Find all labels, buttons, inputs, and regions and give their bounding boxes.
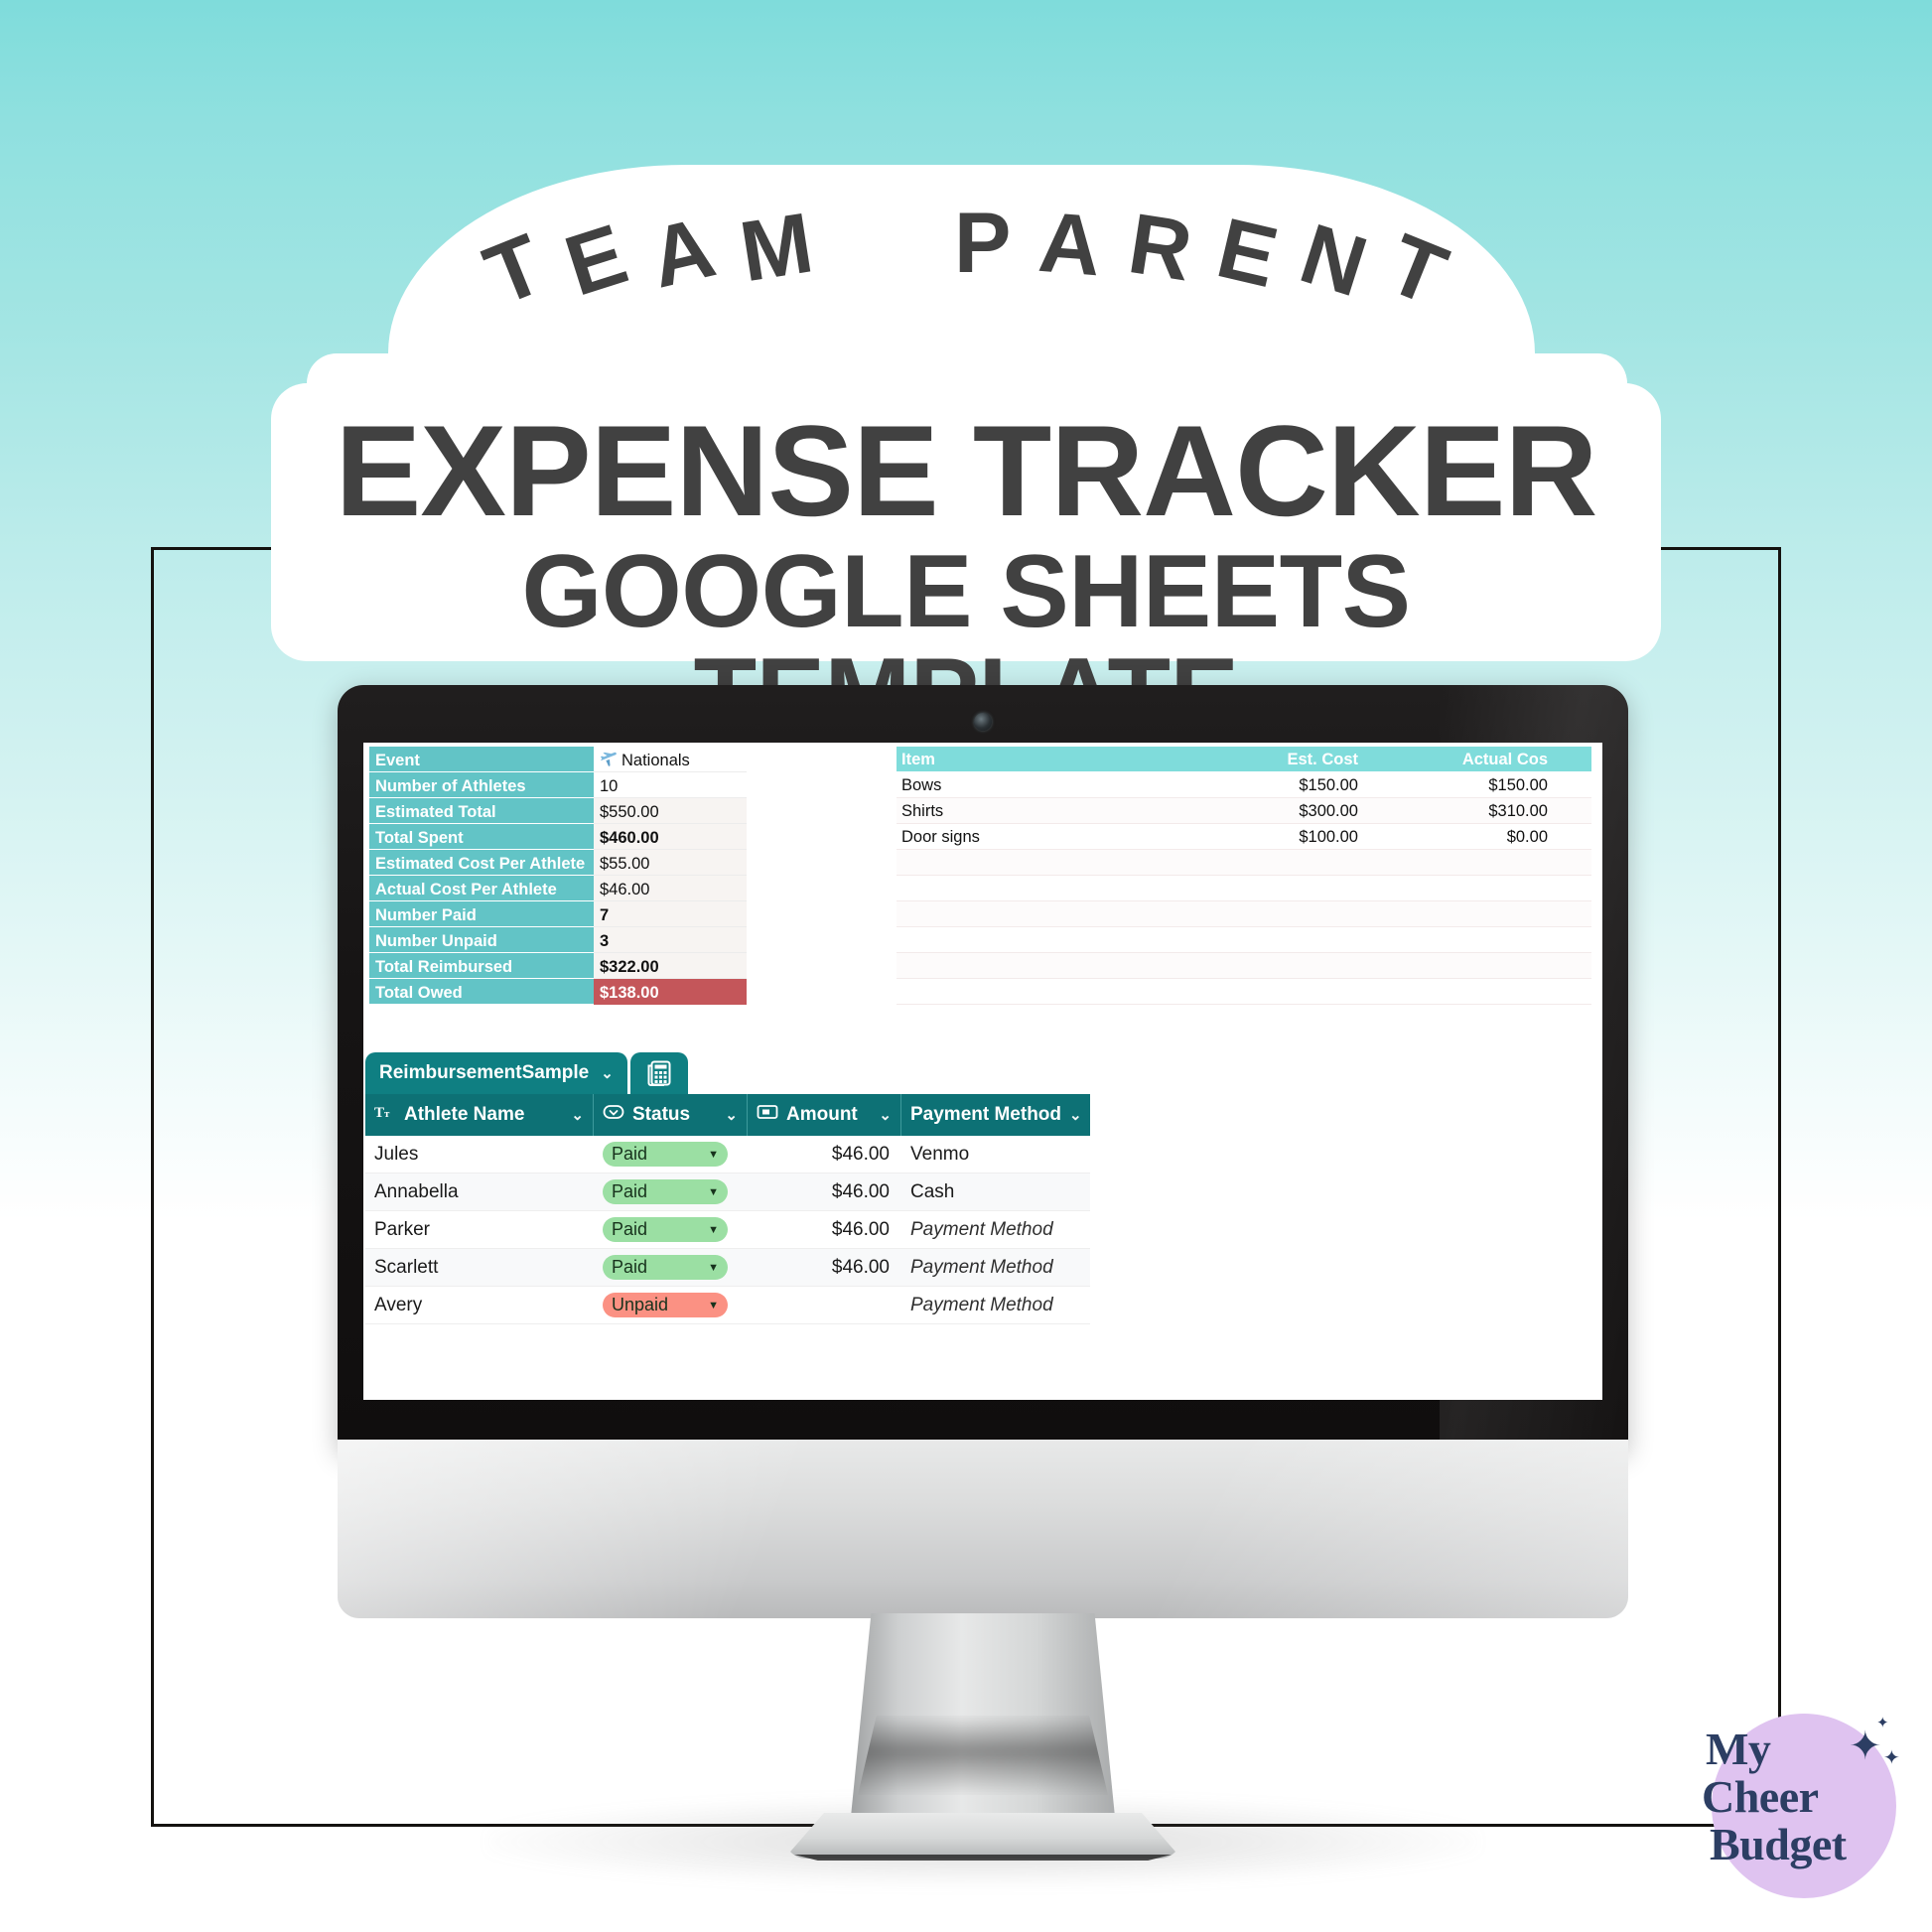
items-col-actual-cost: Actual Cos xyxy=(1368,747,1552,771)
table-row[interactable]: JulesPaid▼$46.00Venmo xyxy=(365,1136,1090,1173)
summary-row-label: Total Spent xyxy=(369,824,594,850)
logo-line-1: My xyxy=(1702,1725,1900,1773)
chevron-down-icon[interactable]: ⌄ xyxy=(1069,1106,1082,1124)
summary-row: Actual Cost Per Athlete$46.00 xyxy=(369,876,747,901)
status-badge-label: Paid xyxy=(612,1219,647,1240)
monitor-chin xyxy=(338,1440,1628,1618)
items-cell-item xyxy=(897,927,1184,952)
summary-row-value[interactable]: $322.00 xyxy=(594,953,747,979)
items-cell-actual-cost xyxy=(1368,876,1552,900)
airplane-icon xyxy=(600,751,618,772)
webcam-icon xyxy=(974,713,992,731)
items-col-est-cost: Est. Cost xyxy=(1184,747,1368,771)
items-cell-item xyxy=(897,979,1184,1004)
cell-status[interactable]: Paid▼ xyxy=(594,1173,748,1210)
caret-down-icon[interactable]: ▼ xyxy=(708,1186,719,1198)
reimbursement-table: ReimbursementSample ⌄ xyxy=(365,1052,1090,1324)
items-cell-est-cost: $300.00 xyxy=(1184,798,1368,823)
chevron-down-icon[interactable]: ⌄ xyxy=(601,1064,614,1082)
items-table-body: Bows$150.00$150.00Shirts$300.00$310.00Do… xyxy=(897,772,1591,1005)
table-row[interactable]: ParkerPaid▼$46.00Payment Method xyxy=(365,1211,1090,1249)
column-header-label: Status xyxy=(632,1104,717,1126)
summary-row-value[interactable]: $550.00 xyxy=(594,798,747,824)
summary-row-label: Event xyxy=(369,747,594,772)
summary-row: Total Reimbursed$322.00 xyxy=(369,953,747,979)
reimbursement-tab-bar: ReimbursementSample ⌄ xyxy=(365,1052,1090,1094)
items-cell-est-cost: $100.00 xyxy=(1184,824,1368,849)
items-table-header: Item Est. Cost Actual Cos xyxy=(897,747,1591,772)
cell-amount[interactable]: $46.00 xyxy=(748,1173,901,1210)
items-table-row[interactable] xyxy=(897,876,1591,901)
items-col-item: Item xyxy=(897,747,1184,771)
summary-row: Number Paid7 xyxy=(369,901,747,927)
items-cell-item xyxy=(897,876,1184,900)
cell-athlete-name[interactable]: Avery xyxy=(365,1287,594,1323)
column-header-amount[interactable]: Amount ⌄ xyxy=(748,1094,901,1136)
items-cell-item xyxy=(897,953,1184,978)
summary-row-label: Estimated Total xyxy=(369,798,594,824)
logo-line-3: Budget xyxy=(1702,1821,1900,1868)
status-badge-unpaid[interactable]: Unpaid▼ xyxy=(603,1293,728,1317)
cell-payment-method[interactable]: Cash xyxy=(901,1173,1090,1210)
cell-status[interactable]: Unpaid▼ xyxy=(594,1287,748,1323)
monitor-stand-base-edge xyxy=(786,1855,1179,1861)
summary-row-label: Number of Athletes xyxy=(369,772,594,798)
items-table-row[interactable] xyxy=(897,979,1591,1005)
items-cell-item: Door signs xyxy=(897,824,1184,849)
summary-row: Estimated Cost Per Athlete$55.00 xyxy=(369,850,747,876)
cell-status[interactable]: Paid▼ xyxy=(594,1249,748,1286)
summary-row-value[interactable]: 3 xyxy=(594,927,747,953)
items-cell-actual-cost: $310.00 xyxy=(1368,798,1552,823)
items-cell-actual-cost xyxy=(1368,927,1552,952)
items-cell-est-cost xyxy=(1184,901,1368,926)
chevron-down-icon[interactable]: ⌄ xyxy=(571,1106,584,1124)
reimbursement-table-body: JulesPaid▼$46.00VenmoAnnabellaPaid▼$46.0… xyxy=(365,1136,1090,1324)
status-badge-label: Paid xyxy=(612,1144,647,1165)
summary-row-label: Number Paid xyxy=(369,901,594,927)
caret-down-icon[interactable]: ▼ xyxy=(708,1300,719,1311)
items-cell-item xyxy=(897,901,1184,926)
summary-table: EventNationalsNumber of Athletes10Estima… xyxy=(369,747,747,1005)
summary-row-label: Estimated Cost Per Athlete xyxy=(369,850,594,876)
cell-athlete-name[interactable]: Annabella xyxy=(365,1173,594,1210)
logo-wordmark: My Cheer Budget xyxy=(1702,1725,1900,1868)
summary-row: EventNationals xyxy=(369,747,747,772)
status-badge-label: Unpaid xyxy=(612,1295,668,1315)
items-table-row[interactable] xyxy=(897,850,1591,876)
table-row[interactable]: AveryUnpaid▼Payment Method xyxy=(365,1287,1090,1324)
items-table-row[interactable]: Door signs$100.00$0.00 xyxy=(897,824,1591,850)
cell-payment-method[interactable]: Payment Method xyxy=(901,1211,1090,1248)
column-header-status[interactable]: Status ⌄ xyxy=(594,1094,748,1136)
summary-row: Number Unpaid3 xyxy=(369,927,747,953)
svg-text:т: т xyxy=(384,1108,390,1120)
logo-line-2: Cheer xyxy=(1702,1773,1900,1821)
items-cell-est-cost xyxy=(1184,953,1368,978)
cell-amount[interactable]: $46.00 xyxy=(748,1211,901,1248)
items-cell-est-cost: $150.00 xyxy=(1184,772,1368,797)
items-cell-actual-cost xyxy=(1368,901,1552,926)
chevron-down-icon[interactable]: ⌄ xyxy=(725,1106,738,1124)
status-badge-label: Paid xyxy=(612,1181,647,1202)
summary-row-value-text: Nationals xyxy=(621,752,690,769)
dropdown-chip-icon xyxy=(603,1103,624,1127)
monitor-chin-shine xyxy=(338,1440,1628,1618)
cell-status[interactable]: Paid▼ xyxy=(594,1136,748,1173)
items-cell-item: Shirts xyxy=(897,798,1184,823)
items-table-row[interactable]: Shirts$300.00$310.00 xyxy=(897,798,1591,824)
items-cell-item: Bows xyxy=(897,772,1184,797)
items-cell-item xyxy=(897,850,1184,875)
column-header-label: Athlete Name xyxy=(404,1104,563,1126)
svg-text:T: T xyxy=(374,1105,384,1121)
items-cell-est-cost xyxy=(1184,979,1368,1004)
cell-amount[interactable]: $46.00 xyxy=(748,1249,901,1286)
cell-amount[interactable]: $46.00 xyxy=(748,1136,901,1173)
caret-down-icon[interactable]: ▼ xyxy=(708,1224,719,1236)
cell-payment-method[interactable]: Venmo xyxy=(901,1136,1090,1173)
monitor-stand-shadow xyxy=(850,1716,1116,1795)
caret-down-icon[interactable]: ▼ xyxy=(708,1262,719,1274)
status-badge-paid[interactable]: Paid▼ xyxy=(603,1255,728,1280)
items-cell-actual-cost: $0.00 xyxy=(1368,824,1552,849)
status-badge-label: Paid xyxy=(612,1257,647,1278)
summary-row-value[interactable]: 7 xyxy=(594,901,747,927)
summary-row-value[interactable]: 10 xyxy=(594,772,747,798)
summary-row: Total Owed$138.00 xyxy=(369,979,747,1005)
summary-row-value[interactable]: Nationals xyxy=(594,747,747,772)
currency-icon xyxy=(757,1103,778,1127)
summary-row: Total Spent$460.00 xyxy=(369,824,747,850)
items-cell-est-cost xyxy=(1184,850,1368,875)
column-header-label: Payment Method xyxy=(910,1104,1061,1126)
summary-row-label: Total Reimbursed xyxy=(369,953,594,979)
items-cell-actual-cost xyxy=(1368,850,1552,875)
summary-row-label: Number Unpaid xyxy=(369,927,594,953)
cell-payment-method[interactable]: Payment Method xyxy=(901,1249,1090,1286)
items-table-row[interactable] xyxy=(897,901,1591,927)
cell-athlete-name[interactable]: Jules xyxy=(365,1136,594,1173)
summary-row-value[interactable]: $138.00 xyxy=(594,979,747,1005)
summary-row-value[interactable]: $46.00 xyxy=(594,876,747,901)
items-table-row[interactable]: Bows$150.00$150.00 xyxy=(897,772,1591,798)
summary-row-value[interactable]: $460.00 xyxy=(594,824,747,850)
brand-logo: ✦ ✦ ✦ My Cheer Budget xyxy=(1702,1702,1912,1912)
summary-row: Number of Athletes10 xyxy=(369,772,747,798)
calculator-icon[interactable] xyxy=(630,1052,688,1094)
status-badge-paid[interactable]: Paid▼ xyxy=(603,1142,728,1167)
cell-athlete-name[interactable]: Parker xyxy=(365,1211,594,1248)
column-header-label: Amount xyxy=(786,1104,871,1126)
reimbursement-header-row: T т Athlete Name ⌄ Status xyxy=(365,1094,1090,1136)
column-header-athlete-name[interactable]: T т Athlete Name ⌄ xyxy=(365,1094,594,1136)
tab-label: ReimbursementSample xyxy=(379,1062,589,1084)
chevron-down-icon[interactable]: ⌄ xyxy=(879,1106,892,1124)
status-badge-paid[interactable]: Paid▼ xyxy=(603,1217,728,1242)
monitor-screen: EventNationalsNumber of Athletes10Estima… xyxy=(363,743,1602,1400)
items-cell-est-cost xyxy=(1184,927,1368,952)
items-cell-actual-cost xyxy=(1368,953,1552,978)
table-row[interactable]: AnnabellaPaid▼$46.00Cash xyxy=(365,1173,1090,1211)
header-banner: TEAM PARENT EXPENSE TRACKER GOOGLE SHEET… xyxy=(271,165,1661,661)
summary-row-label: Actual Cost Per Athlete xyxy=(369,876,594,901)
column-header-payment-method[interactable]: Payment Method ⌄ xyxy=(901,1094,1090,1136)
cell-amount[interactable] xyxy=(748,1287,901,1323)
page-title: EXPENSE TRACKER xyxy=(271,409,1661,532)
summary-row-label: Total Owed xyxy=(369,979,594,1005)
items-cell-actual-cost: $150.00 xyxy=(1368,772,1552,797)
monitor-stand-base xyxy=(784,1813,1181,1859)
summary-row-value[interactable]: $55.00 xyxy=(594,850,747,876)
text-format-icon: T т xyxy=(374,1103,396,1127)
cell-status[interactable]: Paid▼ xyxy=(594,1211,748,1248)
summary-row: Estimated Total$550.00 xyxy=(369,798,747,824)
items-cell-actual-cost xyxy=(1368,979,1552,1004)
cell-athlete-name[interactable]: Scarlett xyxy=(365,1249,594,1286)
items-table-row[interactable] xyxy=(897,953,1591,979)
cell-payment-method[interactable]: Payment Method xyxy=(901,1287,1090,1323)
tab-reimbursement-sample[interactable]: ReimbursementSample ⌄ xyxy=(365,1052,627,1094)
items-cell-est-cost xyxy=(1184,876,1368,900)
imac-monitor-mockup: EventNationalsNumber of Athletes10Estima… xyxy=(338,685,1628,1886)
caret-down-icon[interactable]: ▼ xyxy=(708,1149,719,1161)
table-row[interactable]: ScarlettPaid▼$46.00Payment Method xyxy=(365,1249,1090,1287)
items-table-row[interactable] xyxy=(897,927,1591,953)
status-badge-paid[interactable]: Paid▼ xyxy=(603,1179,728,1204)
items-table: Item Est. Cost Actual Cos Bows$150.00$15… xyxy=(897,747,1591,1005)
